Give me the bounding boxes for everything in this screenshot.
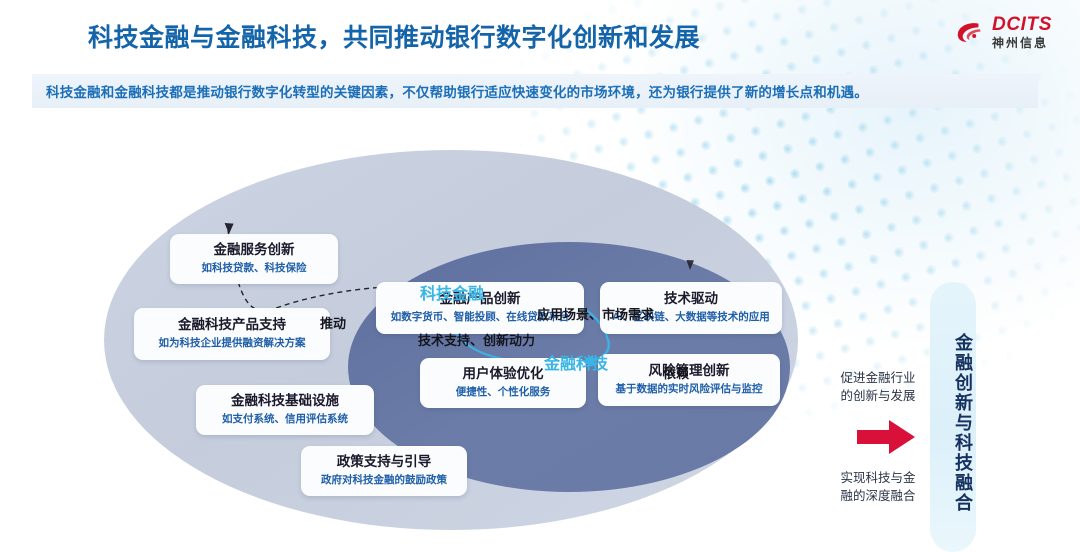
card-financial-service-innovation[interactable]: 金融服务创新 如科技贷款、科技保险 xyxy=(170,234,338,284)
label-relation-scene-demand: 应用场景、市场需求 xyxy=(537,304,654,323)
logo-cn-text: 神州信息 xyxy=(992,37,1052,49)
page-title: 科技金融与金融科技，共同推动银行数字化创新和发展 xyxy=(88,18,700,54)
card-policy-support-guidance[interactable]: 政策支持与引导 政府对科技金融的鼓励政策 xyxy=(301,446,467,496)
label-relation-depend: 依赖 xyxy=(663,363,689,382)
right-note-top: 促进金融行业的创新与发展 xyxy=(830,369,926,405)
card-subtitle: 如科技贷款、科技保险 xyxy=(202,262,307,276)
card-title: 用户体验优化 xyxy=(463,366,544,383)
dcits-swoosh-icon xyxy=(955,17,985,47)
card-title: 政策支持与引导 xyxy=(337,454,432,471)
logo-en-text: DCITS xyxy=(992,15,1052,34)
card-subtitle: 政府对科技金融的鼓励政策 xyxy=(321,474,447,488)
card-title: 金融科技基础设施 xyxy=(231,393,339,410)
card-subtitle: 基于数据的实时风险评估与监控 xyxy=(616,383,763,397)
label-jinrong-keji: 金融科技 xyxy=(544,350,608,374)
brand-logo: DCITS 神州信息 xyxy=(955,15,1052,49)
red-arrow-icon xyxy=(855,417,917,457)
card-fintech-infrastructure[interactable]: 金融科技基础设施 如支付系统、信用评估系统 xyxy=(196,385,374,435)
label-keji-jinrong: 科技金融 xyxy=(420,280,484,304)
card-fintech-product-support[interactable]: 金融科技产品支持 如为科技企业提供融资解决方案 xyxy=(134,308,330,360)
diagram-canvas: 科技金融 金融科技 推动 应用场景、市场需求 技术支持、创新动力 依赖 金融服务… xyxy=(0,112,1080,540)
vertical-bar-text: 金融创新与科技融合 xyxy=(930,308,976,538)
slide: 科技金融与金融科技，共同推动银行数字化创新和发展 DCITS 神州信息 科技金融… xyxy=(0,0,1080,540)
card-title: 金融科技产品支持 xyxy=(178,317,286,334)
subtitle-banner: 科技金融和金融科技都是推动银行数字化转型的关键因素，不仅帮助银行适应快速变化的市… xyxy=(32,74,1038,108)
label-relation-push: 推动 xyxy=(320,313,346,332)
subtitle-banner-text: 科技金融和金融科技都是推动银行数字化转型的关键因素，不仅帮助银行适应快速变化的市… xyxy=(32,81,868,101)
card-subtitle: 如为科技企业提供融资解决方案 xyxy=(159,337,306,351)
label-relation-tech-support: 技术支持、创新动力 xyxy=(418,330,535,349)
card-title: 金融服务创新 xyxy=(214,242,295,259)
right-note-bottom: 实现科技与金融的深度融合 xyxy=(830,469,926,505)
card-subtitle: 便捷性、个性化服务 xyxy=(456,386,551,400)
card-subtitle: 如支付系统、信用评估系统 xyxy=(222,413,348,427)
card-title: 技术驱动 xyxy=(664,291,718,308)
